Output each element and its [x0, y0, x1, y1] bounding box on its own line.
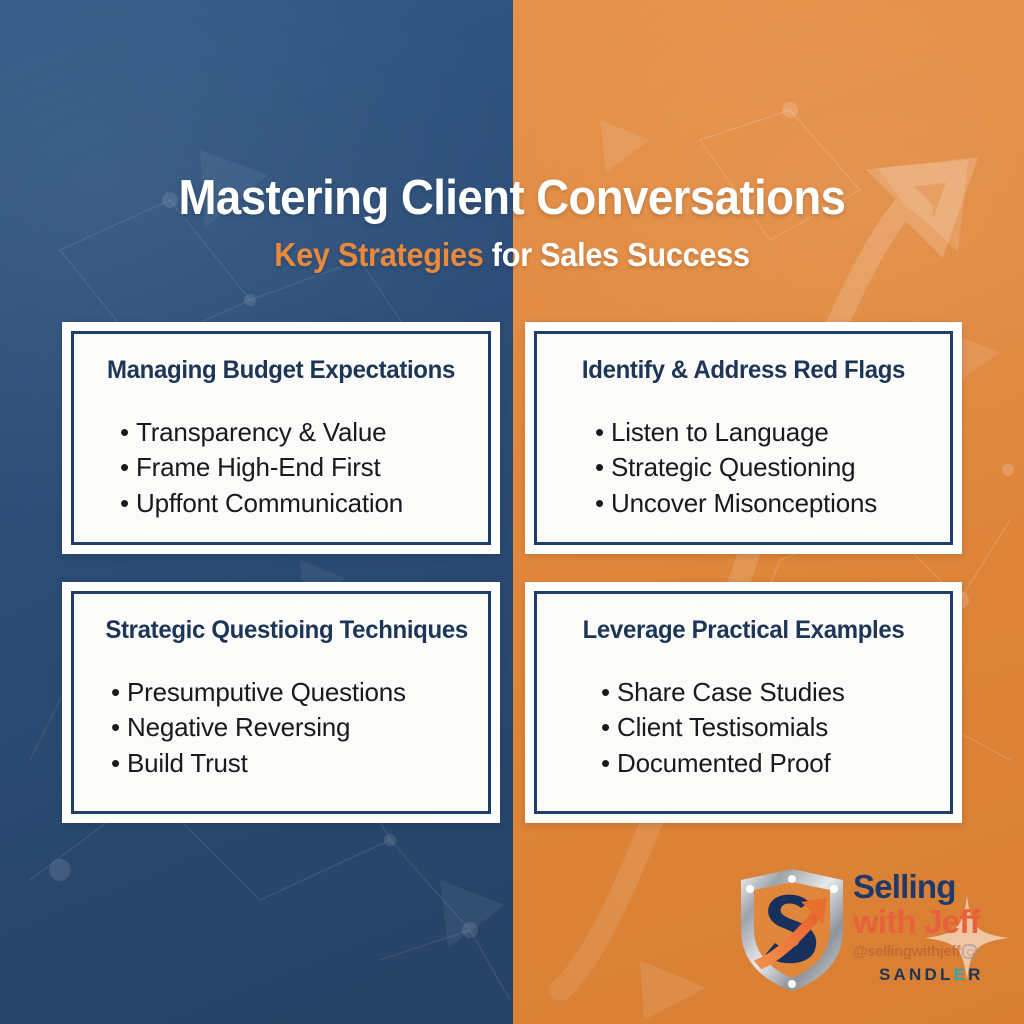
instagram-icon[interactable]: [962, 944, 977, 959]
page-subtitle: Key Strategies for Sales Success: [36, 237, 988, 273]
list-item: •Uncover Misonceptions: [595, 486, 926, 521]
logo-wordmark: Selling with Jeff @sellingwithjeff SANDL…: [853, 870, 1005, 985]
list-item-label: Presumputive Questions: [127, 677, 406, 707]
list-item: •Upffont Communication: [120, 486, 464, 521]
bullet-icon: •: [111, 710, 127, 745]
subtitle-accent: Key Strategies: [274, 236, 483, 273]
list-item-label: Uncover Misonceptions: [611, 488, 877, 518]
card-title: Strategic Questioing Techniques: [105, 616, 456, 645]
card-inner: Strategic Questioing Techniques •Presump…: [71, 591, 491, 814]
page-title: Mastering Client Conversations: [36, 172, 988, 225]
bullet-icon: •: [601, 675, 617, 710]
bullet-icon: •: [601, 746, 617, 781]
bullet-icon: •: [595, 415, 611, 450]
list-item: •Build Trust: [111, 746, 464, 781]
card-bullet-list: •Listen to Language •Strategic Questioni…: [561, 415, 926, 521]
card-bullet-list: •Presumputive Questions •Negative Revers…: [98, 675, 464, 781]
social-handle: @sellingwithjeff: [853, 943, 1005, 960]
sandler-wordmark: SANDLER: [879, 965, 1005, 985]
list-item-label: Listen to Language: [611, 417, 829, 447]
list-item-label: Client Testisomials: [617, 712, 828, 742]
subtitle-rest: for Sales Success: [484, 236, 750, 273]
sandler-part-e: E: [954, 965, 969, 984]
list-item-label: Frame High-End First: [136, 452, 381, 482]
bullet-icon: •: [120, 450, 136, 485]
list-item-label: Share Case Studies: [617, 677, 845, 707]
card-bullet-list: •Transparency & Value •Frame High-End Fi…: [98, 415, 464, 521]
card-title: Leverage Practical Examples: [568, 616, 918, 645]
list-item: •Frame High-End First: [120, 450, 464, 485]
list-item-label: Transparency & Value: [136, 417, 386, 447]
logo-line-selling: Selling: [853, 870, 1005, 903]
sandler-part-b: R: [968, 965, 983, 984]
list-item: •Negative Reversing: [111, 710, 464, 745]
list-item: •Client Testisomials: [601, 710, 926, 745]
list-item-label: Build Trust: [127, 748, 248, 778]
card-managing-budget-expectations: Managing Budget Expectations •Transparen…: [62, 322, 500, 554]
bullet-icon: •: [595, 450, 611, 485]
brand-logo-block: Selling with Jeff @sellingwithjeff SANDL…: [735, 866, 1005, 996]
bullet-icon: •: [111, 675, 127, 710]
social-handle-label: @sellingwithjeff: [853, 943, 960, 960]
bullet-icon: •: [111, 746, 127, 781]
sandler-part-a: SANDL: [879, 965, 954, 984]
card-inner: Managing Budget Expectations •Transparen…: [71, 331, 491, 545]
shield-logo-icon: [735, 866, 849, 992]
list-item: •Strategic Questioning: [595, 450, 926, 485]
list-item: •Presumputive Questions: [111, 675, 464, 710]
list-item: •Listen to Language: [595, 415, 926, 450]
card-identify-address-red-flags: Identify & Address Red Flags •Listen to …: [525, 322, 962, 554]
card-title: Identify & Address Red Flags: [568, 356, 918, 385]
infographic-canvas: Mastering Client Conversations Key Strat…: [0, 0, 1024, 1024]
list-item-label: Upffont Communication: [136, 488, 403, 518]
card-bullet-list: •Share Case Studies •Client Testisomials…: [561, 675, 926, 781]
list-item-label: Strategic Questioning: [611, 452, 855, 482]
card-inner: Leverage Practical Examples •Share Case …: [534, 591, 953, 814]
bullet-icon: •: [595, 486, 611, 521]
card-inner: Identify & Address Red Flags •Listen to …: [534, 331, 953, 545]
card-strategic-questioning-techniques: Strategic Questioing Techniques •Presump…: [62, 582, 500, 823]
card-leverage-practical-examples: Leverage Practical Examples •Share Case …: [525, 582, 962, 823]
list-item: •Transparency & Value: [120, 415, 464, 450]
header-block: Mastering Client Conversations Key Strat…: [0, 172, 1024, 273]
list-item-label: Negative Reversing: [127, 712, 350, 742]
list-item: •Documented Proof: [601, 746, 926, 781]
bullet-icon: •: [120, 486, 136, 521]
bullet-icon: •: [120, 415, 136, 450]
card-title: Managing Budget Expectations: [105, 356, 456, 385]
list-item: •Share Case Studies: [601, 675, 926, 710]
list-item-label: Documented Proof: [617, 748, 831, 778]
bullet-icon: •: [601, 710, 617, 745]
logo-line-with-jeff: with Jeff: [853, 905, 1005, 940]
